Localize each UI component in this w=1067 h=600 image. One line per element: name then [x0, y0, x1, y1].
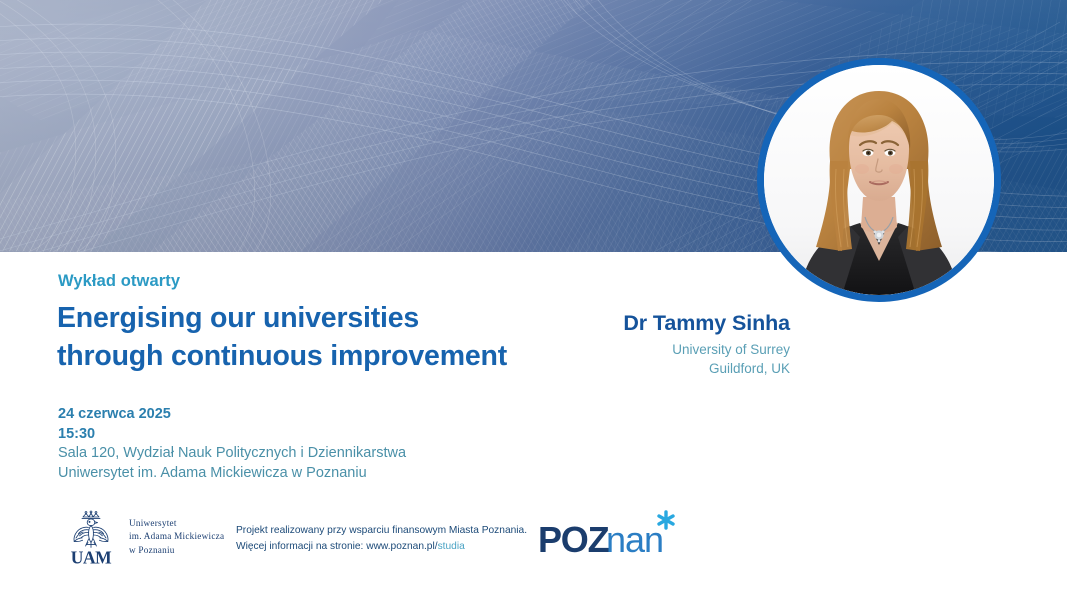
event-date: 24 czerwca 2025	[58, 405, 406, 425]
event-time: 15:30	[58, 425, 406, 445]
lecture-title-line-1: Energising our universities	[57, 302, 419, 334]
portrait-image	[764, 65, 994, 295]
lecture-title: Energising our universities through cont…	[57, 300, 507, 376]
sponsor-line-2: Więcej informacji na stronie: www.poznan…	[236, 539, 527, 555]
lecture-title-line-2: through continuous improvement	[57, 338, 507, 376]
uam-wordmark: Uniwersytet im. Adama Mickiewicza w Pozn…	[129, 517, 224, 558]
uam-line-3: w Poznaniu	[129, 544, 224, 558]
sponsor-line-1: Projekt realizowany przy wsparciu finans…	[236, 523, 527, 539]
poznan-text-light: nan	[606, 519, 663, 560]
event-venue-line-1: Sala 120, Wydział Nauk Politycznych i Dz…	[58, 444, 406, 464]
lecture-details: Wykład otwarty Energising our universiti…	[0, 252, 1067, 600]
event-venue-line-2: Uniwersytet im. Adama Mickiewicza w Pozn…	[58, 464, 406, 484]
uam-line-2: im. Adama Mickiewicza	[129, 530, 224, 544]
speaker-name: Dr Tammy Sinha	[623, 310, 790, 337]
speaker-portrait	[757, 58, 1001, 302]
lecture-kicker: Wykład otwarty	[58, 272, 180, 291]
event-venue: Sala 120, Wydział Nauk Politycznych i Dz…	[58, 444, 406, 483]
uam-logo: UAM Uniwersytet im. Adama Mickiewicza w …	[62, 508, 224, 566]
speaker-location: Guildford, UK	[623, 360, 790, 379]
speaker-affiliation: University of Surrey Guildford, UK	[623, 341, 790, 378]
sponsor-url-prefix: Więcej informacji na stronie: www.poznan…	[236, 541, 438, 552]
speaker-block: Dr Tammy Sinha University of Surrey Guil…	[623, 310, 790, 378]
svg-text:UAM: UAM	[71, 548, 112, 567]
sponsor-url-link[interactable]: studia	[438, 541, 465, 552]
sponsor-note: Projekt realizowany przy wsparciu finans…	[236, 523, 527, 554]
footer: UAM Uniwersytet im. Adama Mickiewicza w …	[0, 500, 1067, 600]
uam-eagle-crest-icon: UAM	[62, 508, 120, 566]
speaker-organisation: University of Surrey	[623, 341, 790, 360]
uam-line-1: Uniwersytet	[129, 517, 224, 531]
poznan-logo: POZ nan	[536, 508, 686, 566]
poznan-text-dark: POZ	[538, 519, 609, 560]
event-info: 24 czerwca 2025 15:30 Sala 120, Wydział …	[58, 405, 406, 484]
